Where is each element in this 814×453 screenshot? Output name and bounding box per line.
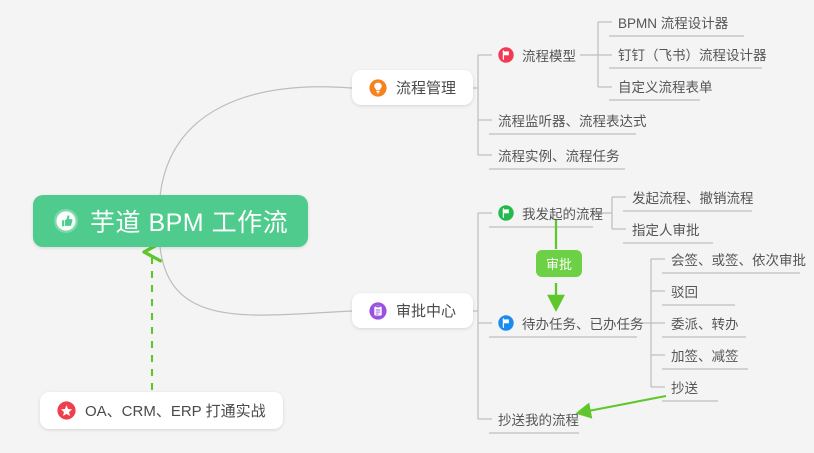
node-initiate-cancel-process[interactable]: 发起流程、撤销流程 xyxy=(623,182,762,212)
node-delegate-transfer[interactable]: 委派、转办 xyxy=(662,308,747,338)
node-bpmn-designer[interactable]: BPMN 流程设计器 xyxy=(609,7,736,37)
node-label: 流程管理 xyxy=(396,77,456,98)
flag-icon-green xyxy=(498,205,514,221)
node-reject[interactable]: 驳回 xyxy=(662,276,706,306)
node-process-listener[interactable]: 流程监听器、流程表达式 xyxy=(489,105,655,135)
node-add-remove-sign[interactable]: 加签、减签 xyxy=(662,340,747,370)
node-process-management[interactable]: 流程管理 xyxy=(352,70,473,105)
node-countersign[interactable]: 会签、或签、依次审批 xyxy=(662,244,814,274)
bottom-note-label: OA、CRM、ERP 打通实战 xyxy=(85,400,266,421)
mindmap-canvas: 芋道 BPM 工作流 流程管理 流程模型 BPMN 流程设计器 钉钉（飞书 xyxy=(0,0,814,453)
clipboard-icon xyxy=(369,302,387,320)
root-node[interactable]: 芋道 BPM 工作流 xyxy=(33,195,308,247)
node-label: 流程模型 xyxy=(522,45,576,65)
node-custom-form[interactable]: 自定义流程表单 xyxy=(609,71,721,101)
node-my-initiated-processes[interactable]: 我发起的流程 xyxy=(489,198,611,228)
node-process-instance[interactable]: 流程实例、流程任务 xyxy=(489,140,628,170)
node-cc-to-me[interactable]: 抄送我的流程 xyxy=(489,404,587,434)
flag-icon-blue xyxy=(498,315,514,331)
thumbs-up-icon xyxy=(53,208,79,234)
node-todo-done-tasks[interactable]: 待办任务、已办任务 xyxy=(489,308,652,338)
node-dingtalk-designer[interactable]: 钉钉（飞书）流程设计器 xyxy=(609,39,775,69)
lightbulb-icon xyxy=(369,79,387,97)
link-root-to-approval-center xyxy=(160,247,352,315)
node-assignee-approval[interactable]: 指定人审批 xyxy=(623,214,708,244)
link-root-to-process-management xyxy=(160,87,352,196)
star-icon xyxy=(57,401,76,420)
node-label: 我发起的流程 xyxy=(522,203,603,223)
flag-icon-red xyxy=(498,47,514,63)
annotation-approval-pill: 审批 xyxy=(536,250,582,277)
node-bottom-note[interactable]: OA、CRM、ERP 打通实战 xyxy=(40,392,283,429)
node-process-model[interactable]: 流程模型 xyxy=(489,40,584,70)
node-label: 审批中心 xyxy=(396,300,456,321)
node-approval-center[interactable]: 审批中心 xyxy=(352,293,473,328)
node-label: 待办任务、已办任务 xyxy=(522,313,644,333)
arrow-cc-to-my-cc xyxy=(578,396,666,413)
root-label: 芋道 BPM 工作流 xyxy=(90,203,288,239)
node-cc[interactable]: 抄送 xyxy=(662,372,706,402)
